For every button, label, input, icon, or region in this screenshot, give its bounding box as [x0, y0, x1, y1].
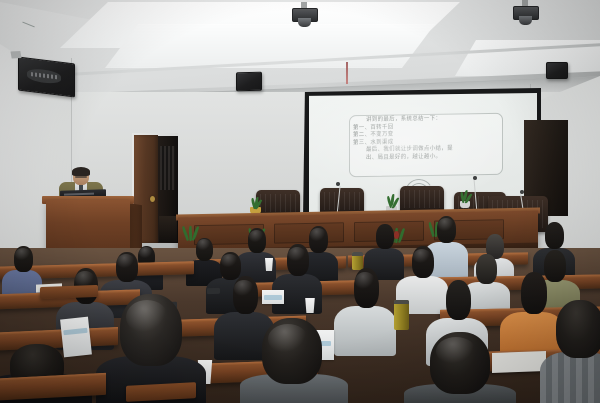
attendee-foreground-grey: [240, 318, 348, 403]
wall-wire-marker: [346, 62, 348, 84]
slide-text: 讲到的最后，系统总结一下： 第一、百转千回 第二、不变万变 第三、水到渠成 最后…: [353, 115, 501, 175]
wall-speaker-right-icon: [546, 62, 568, 79]
wall-speaker-left-icon: [18, 57, 75, 98]
thermos-flask: [394, 300, 409, 330]
chair-back: [40, 285, 98, 299]
attendee-checked-shirt: [540, 300, 600, 403]
presenter-hair: [72, 167, 90, 176]
slide-line-5: 出、局且是好的，越让越小。: [353, 153, 501, 163]
attendee-foreground-right: [404, 332, 516, 403]
cabinet-base: [159, 216, 177, 242]
rostrum-chair: [400, 186, 444, 212]
conference-room-photo: 讲到的最后，系统总结一下： 第一、百转千回 第二、不变万变 第三、水到渠成 最后…: [0, 0, 600, 403]
wall-speaker-center-icon: [236, 72, 262, 91]
door-knob-icon[interactable]: [150, 196, 155, 202]
projector-lens: [298, 18, 311, 27]
cabinet-inside-doorway: [160, 146, 175, 190]
projector-lens: [519, 16, 532, 25]
speaker-bracket: [10, 51, 21, 59]
